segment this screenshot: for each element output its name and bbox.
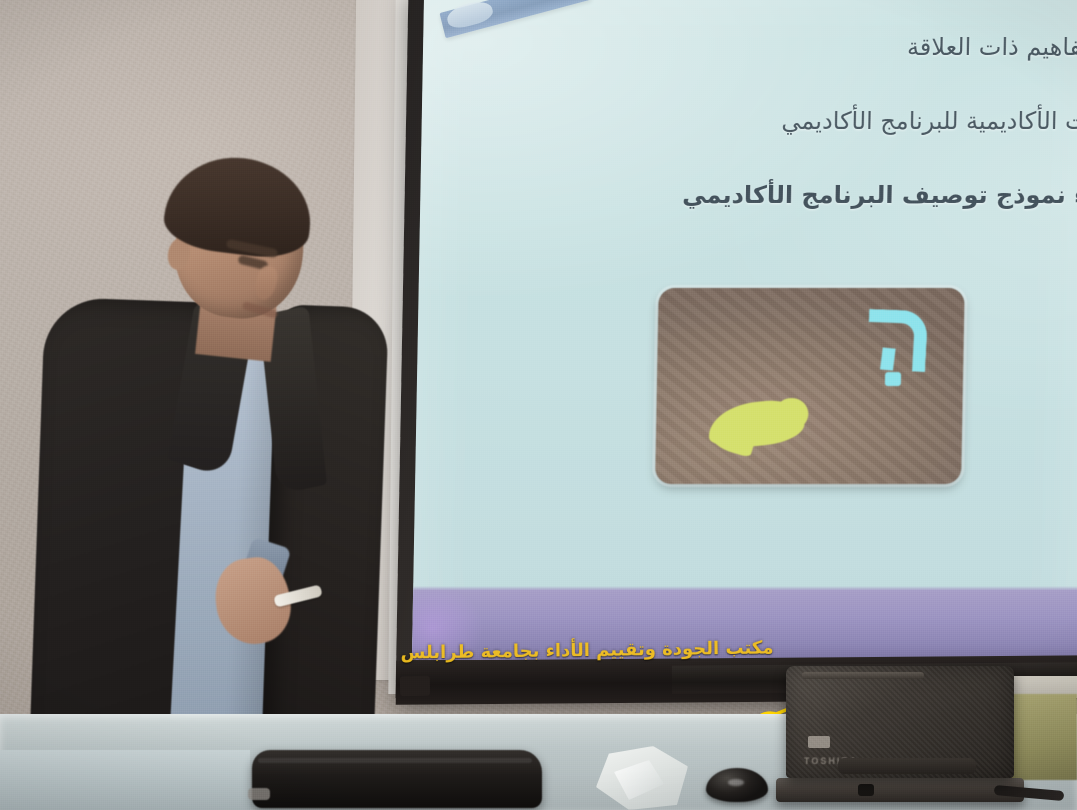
projection-screen-rail-end bbox=[400, 676, 430, 697]
slide-text-block: لفاهيم ذات العلاقة ت الأكاديمية للبرنامج… bbox=[445, 34, 1077, 255]
bag-seam bbox=[258, 758, 532, 763]
slide-line-2: ت الأكاديمية للبرنامج الأكاديمي bbox=[447, 108, 1077, 136]
slide-illustration bbox=[655, 288, 965, 484]
laptop-lid: TOSHIBA bbox=[786, 666, 1014, 778]
crouching-figure-icon bbox=[708, 392, 817, 454]
mouse-highlight bbox=[728, 779, 744, 786]
projected-slide: لفاهيم ذات العلاقة ت الأكاديمية للبرنامج… bbox=[412, 0, 1077, 660]
laptop-base bbox=[776, 778, 1024, 802]
laptop-port bbox=[858, 784, 874, 796]
slide-line-1: لفاهيم ذات العلاقة bbox=[449, 34, 1077, 62]
question-mark-icon bbox=[867, 310, 920, 386]
bag-zipper bbox=[248, 788, 270, 800]
photo-scene: لفاهيم ذات العلاقة ت الأكاديمية للبرنامج… bbox=[0, 0, 1077, 810]
laptop-sticker bbox=[808, 736, 830, 748]
presenter bbox=[30, 160, 380, 810]
laptop[interactable]: TOSHIBA bbox=[786, 666, 1018, 788]
laptop-vent bbox=[802, 672, 924, 679]
equipment-bag bbox=[252, 750, 542, 808]
desk-surface-left bbox=[0, 750, 250, 810]
slide-line-3: ء نموذج توصيف البرنامج الأكاديمي bbox=[446, 182, 1077, 210]
laptop-hinge bbox=[838, 758, 976, 774]
